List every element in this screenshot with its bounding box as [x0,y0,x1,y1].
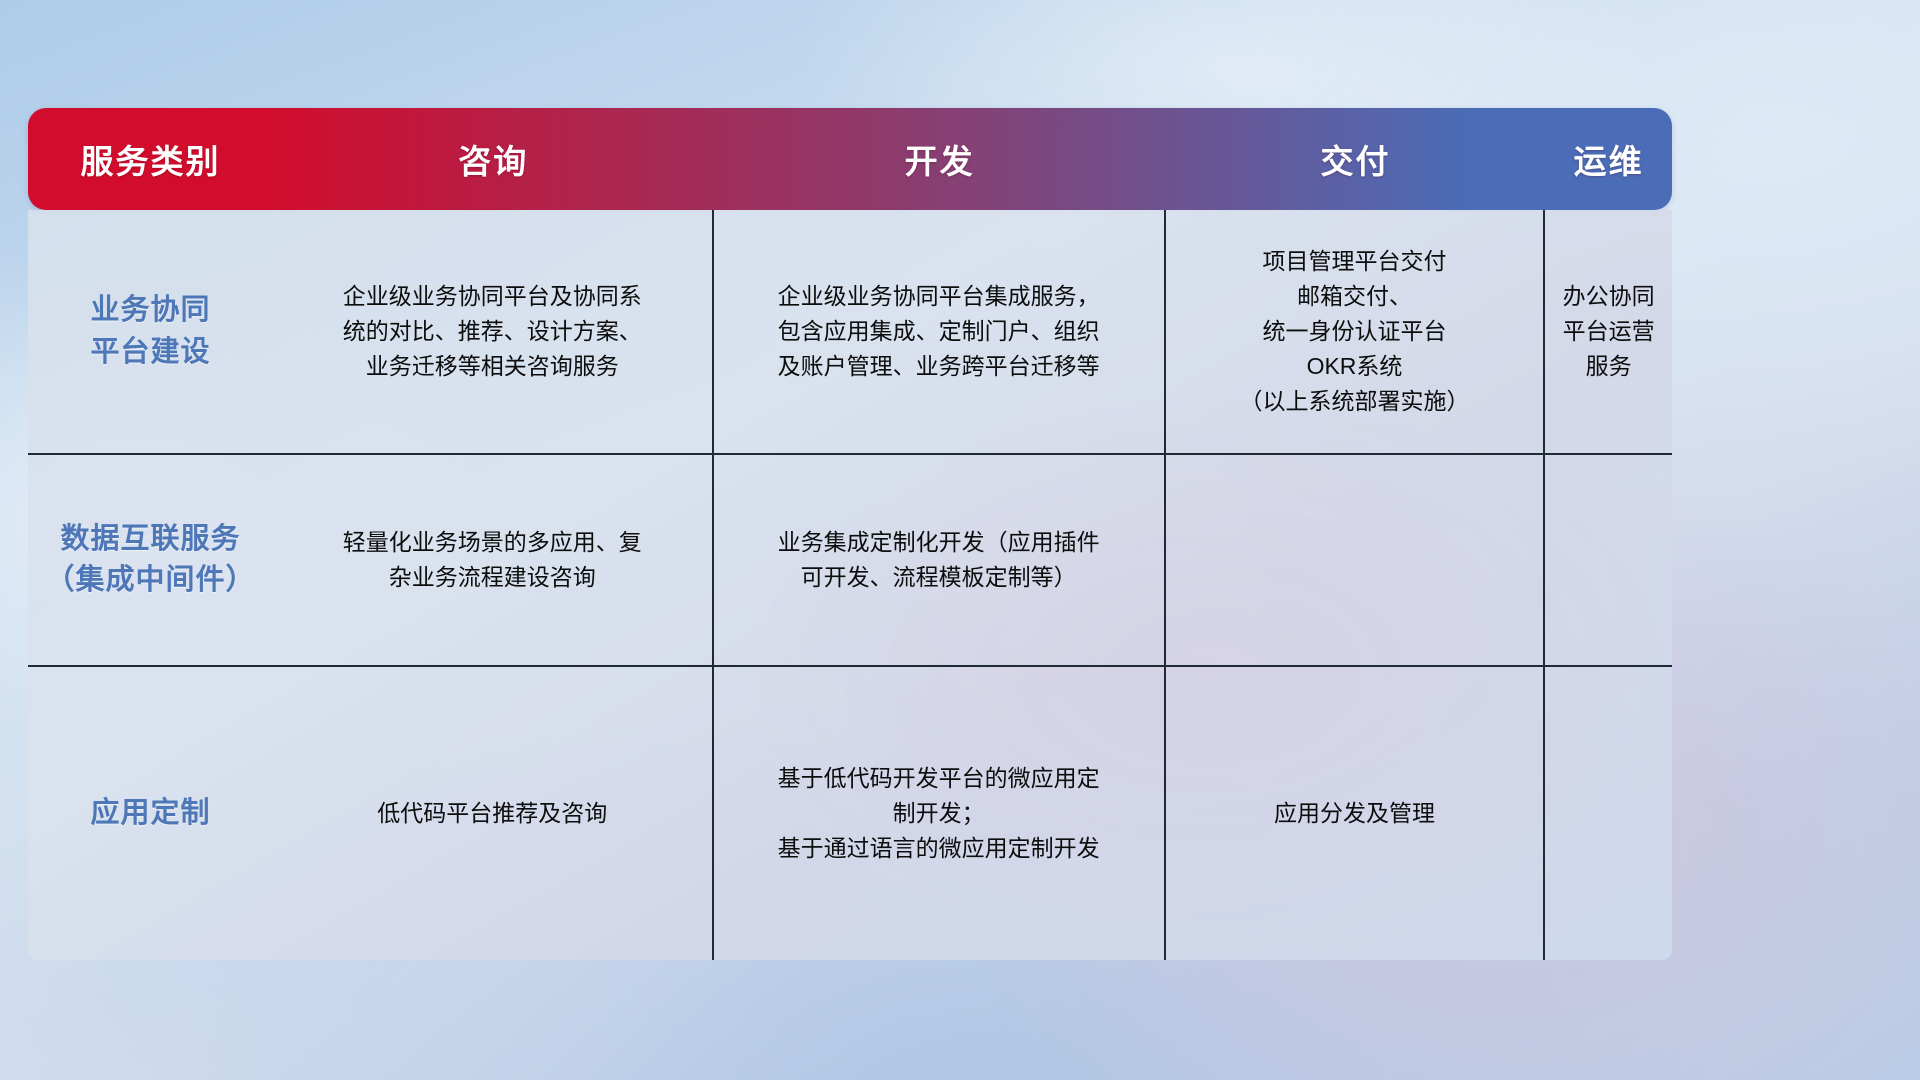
table-row: 应用定制 低代码平台推荐及咨询 基于低代码开发平台的微应用定 制开发； 基于通过… [28,665,1672,960]
cell-development: 企业级业务协同平台集成服务， 包含应用集成、定制门户、组织 及账户管理、业务跨平… [714,210,1166,453]
column-header-consulting: 咨询 [273,135,714,183]
cell-consulting: 轻量化业务场景的多应用、复 杂业务流程建设咨询 [273,455,714,665]
column-header-operations: 运维 [1545,135,1672,183]
cell-development: 业务集成定制化开发（应用插件 可开发、流程模板定制等） [714,455,1166,665]
row-label-cell: 应用定制 [28,667,273,960]
cell-operations: 办公协同平台运营服务 [1545,210,1672,453]
row-label-cell: 业务协同 平台建设 [28,210,273,453]
table-body: 业务协同 平台建设 企业级业务协同平台及协同系 统的对比、推荐、设计方案、 业务… [28,210,1672,960]
service-capability-table: 服务类别 咨询 开发 交付 运维 业务协同 平台建设 企业级业务协同平台及协同系… [28,108,1672,960]
cell-delivery [1166,455,1546,665]
cell-delivery: 应用分发及管理 [1166,667,1546,960]
cell-consulting: 企业级业务协同平台及协同系 统的对比、推荐、设计方案、 业务迁移等相关咨询服务 [273,210,714,453]
table-header-row: 服务类别 咨询 开发 交付 运维 [28,108,1672,210]
column-header-development: 开发 [714,135,1166,183]
column-header-delivery: 交付 [1166,135,1546,183]
row-label-cell: 数据互联服务 （集成中间件） [28,455,273,665]
cell-consulting: 低代码平台推荐及咨询 [273,667,714,960]
cell-operations [1545,667,1672,960]
cell-development: 基于低代码开发平台的微应用定 制开发； 基于通过语言的微应用定制开发 [714,667,1166,960]
table-row: 业务协同 平台建设 企业级业务协同平台及协同系 统的对比、推荐、设计方案、 业务… [28,210,1672,453]
cell-operations [1545,455,1672,665]
column-header-category: 服务类别 [28,135,273,183]
cell-delivery: 项目管理平台交付 邮箱交付、 统一身份认证平台 OKR系统 （以上系统部署实施） [1166,210,1546,453]
table-row: 数据互联服务 （集成中间件） 轻量化业务场景的多应用、复 杂业务流程建设咨询 业… [28,453,1672,665]
